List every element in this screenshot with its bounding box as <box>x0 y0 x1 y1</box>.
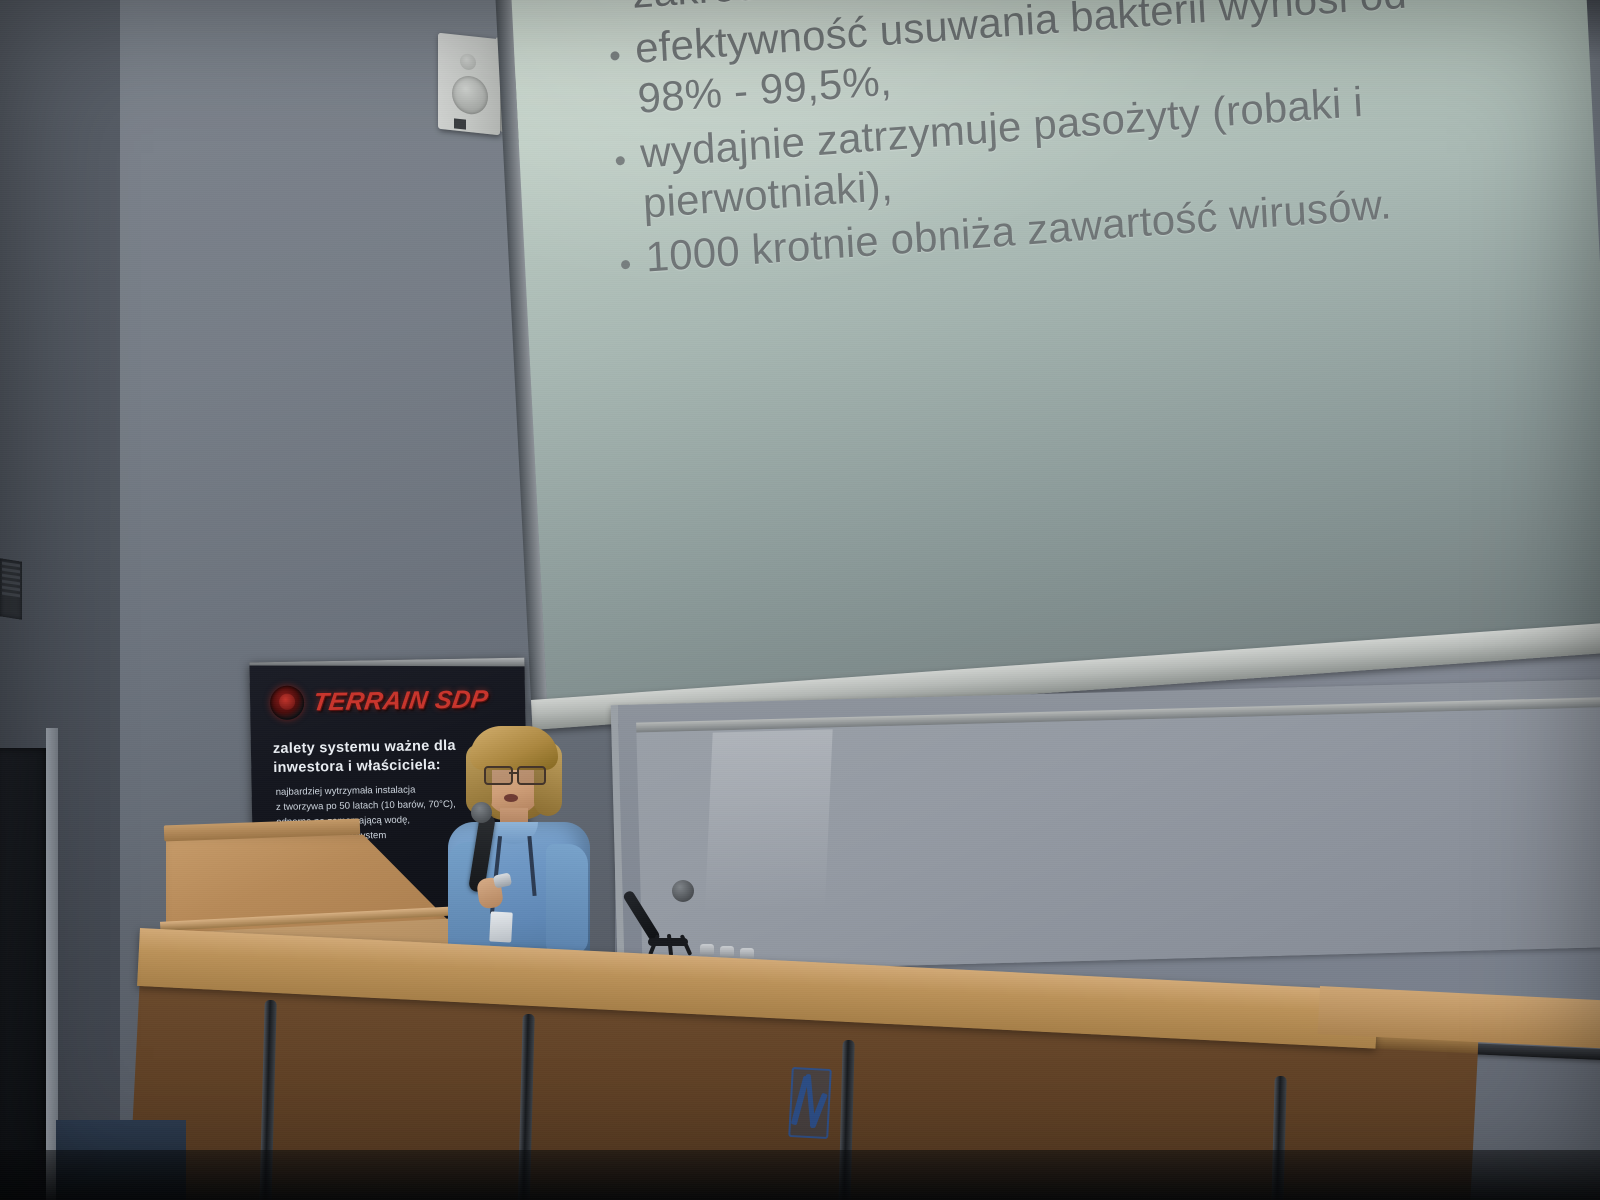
air-vent-icon <box>0 558 22 619</box>
presenter <box>418 726 608 956</box>
glasses-icon <box>484 766 544 781</box>
speaker-woofer-icon <box>452 74 488 116</box>
speaker-cabinet <box>438 33 500 136</box>
bullet-dot-icon <box>616 155 625 165</box>
hair-front <box>470 726 558 770</box>
glasses-lens-right <box>517 766 546 785</box>
banner-brand-text: TERRAIN SDP <box>311 685 490 717</box>
bullet-dot-icon <box>610 51 619 61</box>
glasses-lens-left <box>484 766 513 785</box>
table-microphone-head-icon <box>672 880 694 902</box>
foreground-shadow <box>0 1150 1600 1200</box>
speaker-badge <box>454 118 466 129</box>
bullet-dot-icon <box>621 260 630 270</box>
banner-logo: TERRAIN SDP <box>270 682 489 720</box>
whiteboard-glare <box>705 729 833 912</box>
speaker-tweeter-icon <box>460 53 476 71</box>
desk-emblem-icon <box>788 1067 832 1139</box>
door[interactable] <box>0 748 50 1200</box>
projection-screen: powoduje pop zakresie barwy, mętności, e… <box>484 0 1600 700</box>
terrain-emblem-icon <box>270 685 305 720</box>
mouth <box>504 794 518 802</box>
lecture-hall-photo: powoduje pop zakresie barwy, mętności, e… <box>0 0 1600 1200</box>
slide-content: powoduje pop zakresie barwy, mętności, e… <box>604 0 1600 289</box>
glasses-bridge <box>509 772 517 774</box>
screen-surface: powoduje pop zakresie barwy, mętności, e… <box>500 0 1600 699</box>
